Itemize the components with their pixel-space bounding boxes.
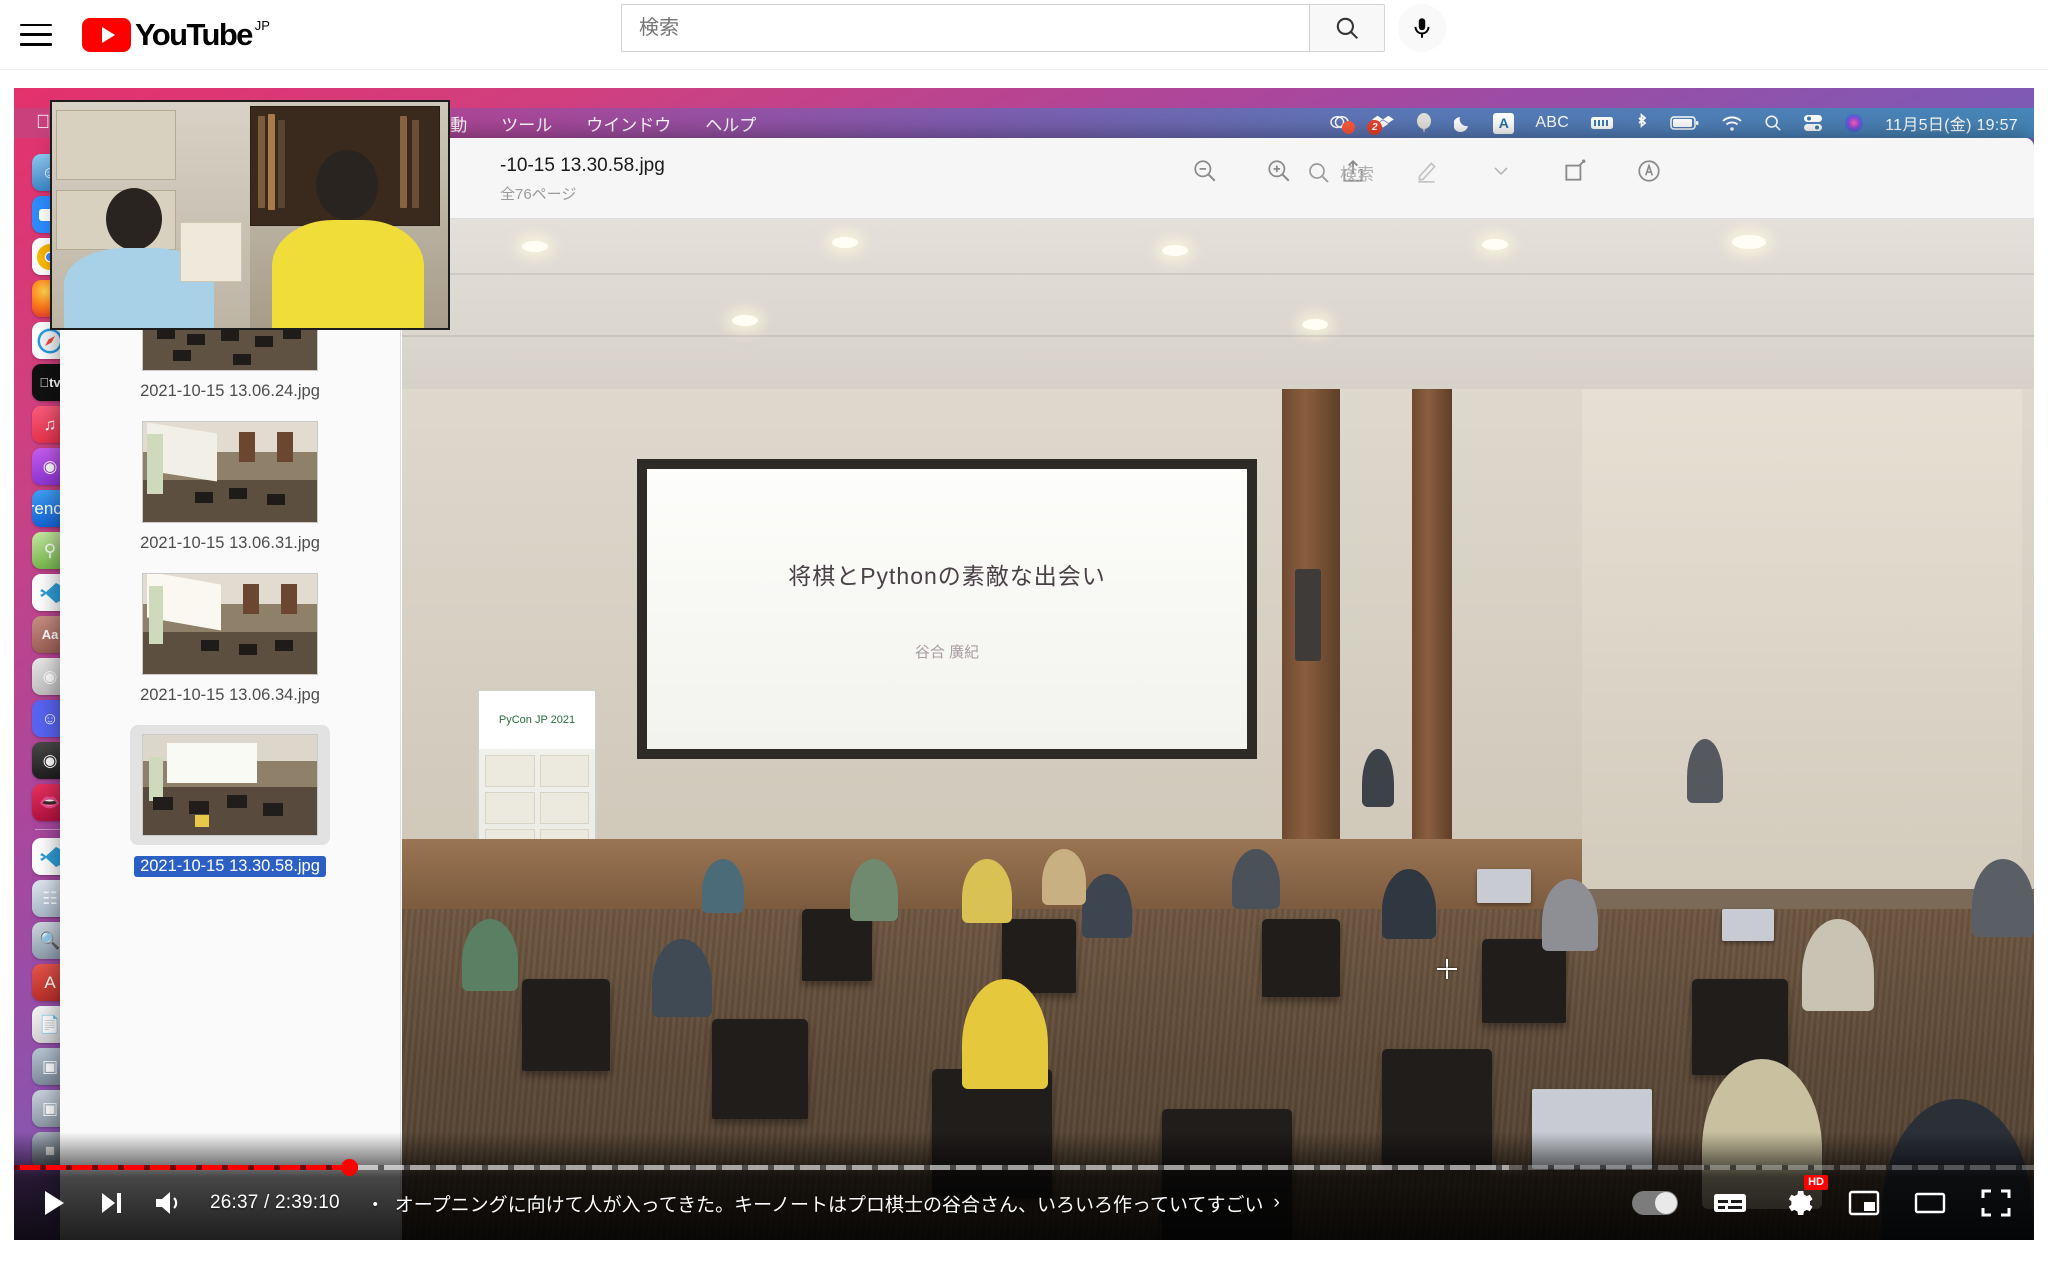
search-button[interactable]: [1309, 4, 1385, 52]
dropbox-status-icon[interactable]: 2: [1372, 114, 1394, 132]
hall-side-wall: [1582, 389, 2022, 889]
subtitles-button[interactable]: [1712, 1190, 1748, 1216]
hamburger-menu-icon[interactable]: [20, 24, 52, 46]
play-pause-button[interactable]: [36, 1186, 70, 1220]
preview-photo-canvas[interactable]: 将棋とPythonの素敵な出会い 谷合 廣紀 PyCon JP 2021: [402, 219, 2034, 1240]
audience-chair: [1262, 919, 1340, 997]
fullscreen-button[interactable]: [1980, 1188, 2012, 1218]
youtube-video-player[interactable]:  プレビュー ファイル 編集 表示 移動 ツール ウインドウ ヘルプ 2: [14, 88, 2034, 1240]
thumbnail-label: 2021-10-15 13.06.31.jpg: [140, 534, 320, 553]
menu-bar-clock[interactable]: 11月5日(金) 19:57: [1885, 111, 2018, 135]
hall-ceiling: [402, 219, 2034, 394]
spotlight-search-icon[interactable]: [1764, 114, 1782, 132]
projection-screen: 将棋とPythonの素敵な出会い 谷合 廣紀: [637, 459, 1257, 759]
document-title: -10-15 13.30.58.jpg: [500, 155, 665, 177]
search-input[interactable]: [621, 4, 1309, 52]
youtube-logo[interactable]: YouTube JP: [82, 16, 270, 53]
slide-title: 将棋とPythonの素敵な出会い: [788, 557, 1106, 591]
search-icon: [1307, 161, 1331, 185]
chapter-title: オープニングに向けて人が入ってきた。キーノートはプロ棋士の谷合さん、いろいろ作っ…: [395, 1190, 1264, 1217]
preview-search-placeholder: 検索: [1340, 160, 1374, 185]
autoplay-toggle[interactable]: [1632, 1191, 1678, 1215]
crosshair-cursor: [1437, 959, 1457, 979]
zoom-out-icon[interactable]: [1190, 156, 1220, 186]
settings-gear-icon: [1782, 1187, 1814, 1219]
volume-icon: [152, 1188, 184, 1218]
chevron-down-icon[interactable]: [1486, 156, 1516, 186]
volume-button[interactable]: [152, 1188, 184, 1218]
search-icon: [1334, 15, 1360, 41]
chapter-info[interactable]: ・ オープニングに向けて人が入ってきた。キーノートはプロ棋士の谷合さん、いろいろ…: [366, 1190, 1280, 1217]
webcam-overlay[interactable]: [50, 100, 450, 330]
subtitles-icon: [1712, 1190, 1748, 1216]
miniplayer-icon: [1848, 1189, 1880, 1217]
input-source-label: ABC: [1535, 114, 1569, 132]
chapter-chevron-icon[interactable]: ›: [1273, 1192, 1279, 1214]
microphone-icon: [1409, 15, 1435, 41]
audience-laptop: [1477, 869, 1531, 903]
wifi-icon[interactable]: [1721, 115, 1743, 132]
markup-pen-icon[interactable]: [1412, 156, 1442, 186]
siri-icon[interactable]: [1844, 113, 1864, 133]
audience-chair: [522, 979, 610, 1071]
player-controls-left: 26:37 / 2:39:10 ・ オープニングに向けて人が入ってきた。キーノー…: [36, 1172, 1280, 1234]
menu-item-tools[interactable]: ツール: [501, 111, 552, 136]
next-track-icon: [96, 1188, 126, 1218]
speaker-box: [1295, 569, 1321, 661]
audience-person: [1542, 879, 1598, 951]
miniplayer-button[interactable]: [1848, 1189, 1880, 1217]
video-progress-bar[interactable]: [14, 1165, 2034, 1170]
fullscreen-icon: [1980, 1188, 2012, 1218]
thumbnail-label: 2021-10-15 13.06.24.jpg: [140, 382, 320, 401]
dropbox-badge-count: 2: [1367, 120, 1382, 135]
thumbnail-label-selected: 2021-10-15 13.30.58.jpg: [134, 856, 326, 877]
menu-item-help[interactable]: ヘルプ: [705, 111, 756, 136]
sync-status-icon[interactable]: [1329, 114, 1351, 132]
chapter-markers: [14, 1165, 2034, 1170]
menu-bar-status-items: 2 A ABC: [1329, 108, 2018, 138]
preview-search-field[interactable]: 検索: [1307, 160, 1374, 185]
list-item-selected[interactable]: 2021-10-15 13.30.58.jpg: [60, 715, 400, 887]
settings-button[interactable]: HD: [1782, 1187, 1814, 1219]
audience-chair: [1382, 1049, 1492, 1169]
webcam-participant-left: [52, 102, 250, 328]
apple-menu-icon[interactable]: : [36, 112, 50, 134]
zoom-in-icon[interactable]: [1264, 156, 1294, 186]
quality-badge: HD: [1804, 1175, 1828, 1190]
annotate-icon[interactable]: [1634, 156, 1664, 186]
youtube-country-code: JP: [255, 18, 270, 33]
input-source-icon[interactable]: A: [1493, 113, 1514, 134]
slide-author: 谷合 廣紀: [915, 641, 979, 662]
youtube-play-icon: [82, 18, 131, 52]
preview-thumbnail-sidebar[interactable]: 2021-10-15 13.06.13.jpg: [60, 219, 401, 1240]
bluetooth-icon[interactable]: [1635, 113, 1649, 133]
audience-chair: [1482, 939, 1566, 1023]
shared-screen-content:  プレビュー ファイル 編集 表示 移動 ツール ウインドウ ヘルプ 2: [14, 88, 2034, 1240]
search-area: [621, 4, 1446, 52]
video-time-display: 26:37 / 2:39:10: [210, 1192, 340, 1214]
do-not-disturb-moon-icon[interactable]: [1454, 114, 1472, 132]
control-center-icon[interactable]: [1803, 114, 1823, 132]
battery-icon[interactable]: [1670, 115, 1700, 131]
player-controls-right: HD: [1632, 1172, 2012, 1234]
youtube-header: YouTube JP: [0, 0, 2048, 70]
balloon-status-icon[interactable]: [1415, 113, 1433, 133]
rotate-icon[interactable]: [1560, 156, 1590, 186]
thumbnail-image: [142, 421, 318, 523]
document-page-count: 全76ページ: [500, 183, 576, 204]
sync-badge-dot: [1342, 121, 1355, 134]
play-icon: [36, 1186, 70, 1220]
voice-search-button[interactable]: [1398, 4, 1446, 52]
banner-logo: PyCon JP 2021: [479, 691, 595, 749]
theater-mode-icon: [1914, 1189, 1946, 1217]
list-item[interactable]: 2021-10-15 13.06.31.jpg: [60, 411, 400, 563]
next-video-button[interactable]: [96, 1188, 126, 1218]
chapter-separator: ・: [366, 1190, 385, 1217]
audience-laptop: [1532, 1089, 1652, 1169]
list-item[interactable]: 2021-10-15 13.06.34.jpg: [60, 563, 400, 715]
thumbnail-image: [142, 734, 318, 836]
youtube-logo-text: YouTube: [135, 17, 252, 53]
menu-item-window[interactable]: ウインドウ: [586, 111, 671, 136]
audience-laptop: [1722, 909, 1774, 941]
theater-mode-button[interactable]: [1914, 1189, 1946, 1217]
audience-chair: [712, 1019, 808, 1119]
webcam-participant-right: [250, 102, 448, 328]
thumbnail-label: 2021-10-15 13.06.34.jpg: [140, 686, 320, 705]
preview-toolbar-icons: [1190, 156, 1664, 186]
wall-pillar: [1412, 389, 1452, 889]
thumbnail-image: [142, 573, 318, 675]
battery-meter-icon[interactable]: [1590, 115, 1614, 131]
